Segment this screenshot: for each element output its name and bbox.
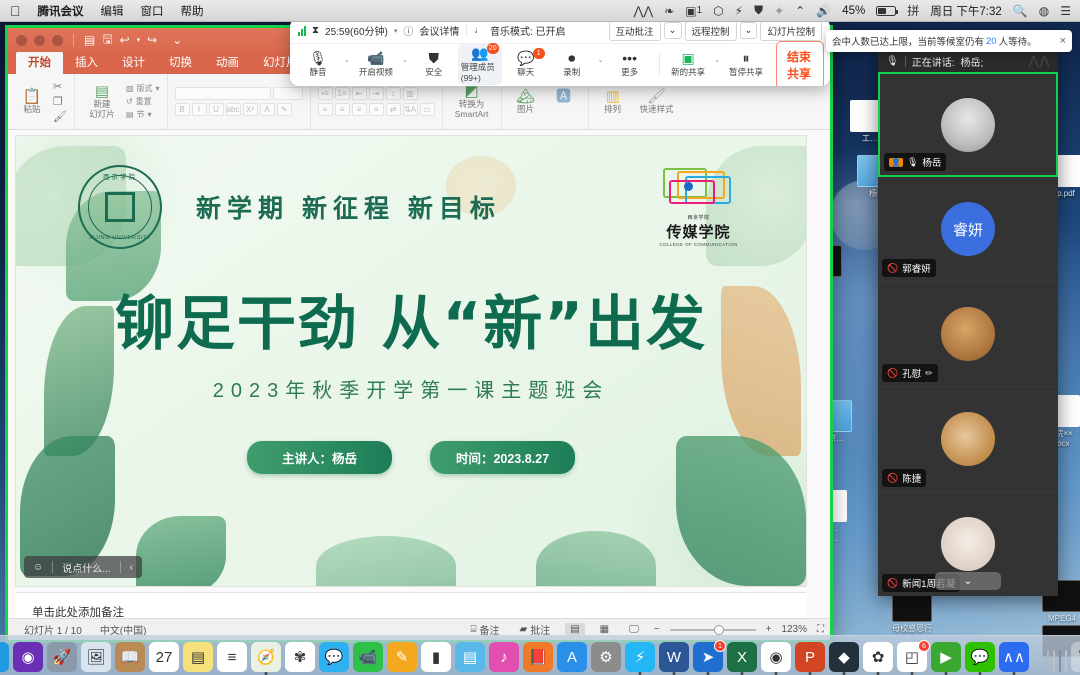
reminders-icon[interactable]: ≡ (217, 642, 247, 672)
strikethrough-button[interactable]: abc (226, 103, 241, 116)
align-right-button[interactable]: ≡ (352, 103, 367, 116)
dock-badge: 1 (714, 640, 726, 652)
dropbox-icon[interactable]: ⬡ (713, 4, 723, 18)
wifi-icon[interactable]: ⌃ (795, 4, 805, 18)
maximize-window-button[interactable] (52, 35, 63, 46)
system-preferences-icon[interactable]: ⚙ (591, 642, 621, 672)
powerpoint-icon[interactable]: P (795, 642, 825, 672)
hourglass-icon: ⧗ (312, 25, 319, 36)
share-screen-icon: ▣ (682, 51, 695, 65)
reset-icon: ↺ (126, 97, 133, 106)
redo-icon[interactable]: ↪ (147, 33, 157, 47)
participant-tile[interactable]: 🚫陈捷 (878, 387, 1058, 492)
more-icon: ••• (622, 51, 637, 65)
tab-transitions[interactable]: 切换 (157, 51, 204, 74)
host-icon: 👤 (889, 158, 903, 167)
menu-help[interactable]: 帮助 (181, 3, 204, 19)
volume-icon[interactable]: 🔊 (816, 4, 831, 18)
new-slide-icon: ▤ (95, 84, 109, 99)
video-off-icon: 📹 (367, 51, 384, 65)
participant-name-badge: 👤🎙杨岳 (884, 153, 946, 171)
line-spacing-button[interactable]: ↕ (386, 87, 401, 100)
screencast-icon[interactable]: ▣1 (685, 4, 702, 18)
chevron-down-icon[interactable]: ⌄ (712, 56, 722, 73)
college-name-text: 传媒学院 (651, 221, 746, 242)
meeting-details-link[interactable]: 会议详情 (419, 23, 459, 38)
meeting-button-pause-share[interactable]: ⏸暂停共享 (724, 49, 768, 80)
meeting-button-more[interactable]: •••更多 (608, 49, 652, 80)
participants-icon: 👥 (471, 46, 488, 60)
microphone-muted-icon: 🚫 (887, 473, 898, 484)
undo-caret-icon[interactable]: ▾ (137, 36, 141, 44)
end-share-button[interactable]: 结束共享 (776, 41, 824, 87)
speaking-label: 正在讲话: (912, 54, 955, 69)
reset-button[interactable]: ↺重置 (126, 96, 160, 107)
align-center-button[interactable]: ≡ (335, 103, 350, 116)
layout-button[interactable]: ▧版式▾ (126, 83, 160, 94)
notification-badge: 20 (487, 43, 499, 54)
participant-name: 郭睿妍 (902, 261, 931, 275)
speaking-indicator: 🎙 正在讲话: 杨岳; ⋀⋀ (878, 50, 1058, 72)
columns-button[interactable]: ▥ (403, 87, 418, 100)
notification-count: 20 (984, 36, 999, 47)
minimized-window[interactable] (1047, 650, 1049, 672)
quick-styles-label: 快速样式 (640, 105, 674, 114)
align-text-button[interactable]: ⇅A (403, 103, 418, 116)
section-label: 节 (137, 109, 145, 120)
ribbon-group-clipboard: 📋 粘贴 ✂ ❐ 🖌 (8, 74, 75, 129)
signal-icon (298, 26, 306, 36)
quick-styles-button[interactable]: 🖌 快速样式 (634, 89, 680, 114)
file-label: 母校感恩行 (880, 624, 944, 634)
ribbon-group-slides: ▤ 新建 幻灯片 ▧版式▾ ↺重置 ▤节▾ (75, 74, 168, 129)
emoji-icon[interactable]: ☺ (24, 556, 52, 578)
speaking-name: 杨岳; (960, 54, 983, 69)
collapse-icon[interactable]: ‹ (121, 556, 142, 578)
meeting-button-label: 暂停共享 (729, 66, 763, 78)
terminal-icon[interactable]: ◆ (829, 642, 859, 672)
participant-tile[interactable]: 🚫孔慰✏ (878, 282, 1058, 387)
cut-icon[interactable]: ✂ (53, 80, 67, 93)
participant-name-badge: 🚫郭睿妍 (882, 259, 936, 277)
microphone-muted-icon: 🚫 (887, 578, 898, 589)
textbox-icon: 🅰 (556, 89, 571, 104)
remote-control-button[interactable]: 远程控制 (685, 21, 737, 41)
messages-icon[interactable]: 💬 (319, 642, 349, 672)
reset-label: 重置 (136, 96, 152, 107)
meeting-button-label: 录制 (563, 66, 580, 78)
record-icon: ⏺ (568, 51, 575, 65)
battery-percent: 45% (842, 5, 865, 17)
section-icon: ▤ (126, 110, 134, 119)
send-anywhere-icon[interactable]: ➤1 (693, 642, 723, 672)
new-slide-label: 新建 幻灯片 (89, 100, 115, 119)
remote-control-caret-icon[interactable]: ⌄ (740, 22, 758, 39)
microphone-muted-icon: 🚫 (887, 263, 898, 274)
avatar (941, 412, 995, 466)
college-top-text: 西京学院 (651, 214, 746, 221)
minimized-window[interactable] (1065, 650, 1067, 672)
font-color-button[interactable]: A (260, 103, 275, 116)
input-method-icon[interactable]: 拼 (907, 2, 919, 19)
meeting-button-label: 安全 (425, 66, 442, 78)
layout-label: 版式 (137, 83, 153, 94)
ccleaner-icon[interactable]: ✿ (863, 642, 893, 672)
excel-icon[interactable]: X (727, 642, 757, 672)
arrange-label: 排列 (604, 105, 621, 114)
keynote-icon[interactable]: ▤ (455, 642, 485, 672)
smartart-label: 转换为 SmartArt (455, 100, 489, 119)
waiting-room-notification: 会中人数已达上限，当前等候室仍有 20 人等待。 × (826, 30, 1072, 52)
notification-badge: 1 (533, 48, 545, 59)
calendar-icon[interactable]: 27 (149, 642, 179, 672)
text-box-align-button[interactable]: ▭ (420, 103, 435, 116)
itunes-icon[interactable]: ♪ (489, 642, 519, 672)
justify-button[interactable]: ≡ (369, 103, 384, 116)
photos-icon[interactable]: ✾ (285, 642, 315, 672)
slide-header: 西京学院 XIJING UNIVERSITY 新学期 新征程 新目标 (78, 164, 746, 250)
notes-icon[interactable]: ▤ (183, 642, 213, 672)
mediaplayer-icon[interactable]: ▶ (931, 642, 961, 672)
powerpoint-body: 西京学院 XIJING UNIVERSITY 新学期 新征程 新目标 (8, 130, 830, 640)
mac-menu-bar:  腾讯会议 编辑 窗口 帮助 ⋀⋀ ❧ ▣1 ⬡ ⚡ ⛊ ✦ ⌃ 🔊 45% … (0, 0, 1080, 22)
close-window-button[interactable] (16, 35, 27, 46)
participant-tile[interactable]: 睿妍🚫郭睿妍 (878, 177, 1058, 282)
meeting-chat-overlay[interactable]: ☺ 说点什么... ‹ (24, 556, 142, 578)
mac-dock: ☺◉🚀🖼📖27▤≡🧭✾💬📹✎▮▤♪📕A⚙⚡W➤1X◉P◆✿◰6▶💬∧∧🗑 (0, 635, 1080, 675)
info-icon[interactable]: ⓘ (403, 23, 413, 38)
wechat-icon[interactable]: ❧ (664, 4, 674, 18)
notification-text-after: 人等待。 (999, 34, 1037, 48)
customize-icon[interactable]: ⌄ (172, 33, 182, 47)
ibooks-icon[interactable]: 📕 (523, 642, 553, 672)
meeting-button-label: 更多 (621, 66, 638, 78)
font-size-select[interactable] (273, 87, 303, 100)
slide-content: 西京学院 XIJING UNIVERSITY 新学期 新征程 新目标 (16, 136, 806, 586)
zoom-in-button[interactable]: + (766, 624, 772, 635)
shield-icon: ⛊ (429, 51, 440, 65)
participant-tile[interactable]: 👤🎙杨岳 (878, 72, 1058, 177)
layout-icon: ▧ (126, 84, 134, 93)
chat-icon: 💬 (517, 51, 534, 65)
university-seal-icon: 西京学院 XIJING UNIVERSITY (78, 165, 162, 249)
numbering-button[interactable]: 1≡ (335, 87, 350, 100)
chrome-icon[interactable]: ◉ (761, 642, 791, 672)
align-left-button[interactable]: ≡ (318, 103, 333, 116)
wechat-icon[interactable]: 💬 (965, 642, 995, 672)
avatar (941, 98, 995, 152)
paste-button[interactable]: 📋 粘贴 (15, 89, 49, 114)
slide-subtitle: 2023年秋季开学第一课主题班会 (16, 374, 806, 403)
slide-main-title: 铆足干劲 从“新”出发 (16, 276, 806, 361)
zoom-level: 123% (781, 624, 807, 635)
picture-label: 图片 (517, 105, 534, 114)
tencent-meeting-icon[interactable]: ∧∧ (999, 642, 1029, 672)
battery-icon[interactable] (876, 6, 896, 16)
format-painter-icon[interactable]: 🖌 (53, 110, 67, 123)
flash-icon[interactable]: ⚡ (735, 4, 743, 18)
font-family-select[interactable] (175, 87, 271, 100)
participant-name: 陈捷 (902, 471, 921, 485)
college-logo: 西京学院 传媒学院 COLLEGE OF COMMUNICATION (651, 168, 746, 247)
picture-icon: 🏔 (516, 89, 535, 104)
decrease-indent-button[interactable]: ⇤ (352, 87, 367, 100)
preview-icon[interactable]: 🖼 (81, 642, 111, 672)
zoom-slider-handle[interactable] (714, 625, 724, 635)
minimized-window[interactable] (1053, 650, 1055, 672)
chevron-down-icon[interactable]: ⌄ (596, 56, 606, 73)
participant-name-badge: 🚫陈捷 (882, 469, 926, 487)
smartart-button[interactable]: ◩ 转换为 SmartArt (450, 84, 494, 119)
underline-button[interactable]: U (209, 103, 224, 116)
microphone-icon: 🎙 (886, 56, 899, 67)
meeting-button-microphone[interactable]: 🎙静音 (296, 49, 340, 80)
menu-app-name[interactable]: 腾讯会议 (38, 3, 84, 19)
meeting-button-share-screen[interactable]: ▣新的共享 (666, 49, 710, 80)
dock-badge: 6 (918, 640, 930, 652)
participant-name: 孔慰 (902, 366, 921, 380)
meeting-timer: 25:59(60分钟) (325, 23, 388, 38)
zoom-slider[interactable] (670, 629, 756, 631)
finder-icon[interactable]: ☺ (0, 642, 9, 672)
meeting-button-label: 静音 (309, 66, 326, 78)
thunder-icon[interactable]: ⚡ (625, 642, 655, 672)
slide-pills: 主讲人：杨岳 时间：2023.8.27 (16, 441, 806, 474)
paste-icon: 📋 (23, 89, 42, 104)
meeting-button-chat[interactable]: 💬聊天1 (504, 49, 548, 80)
timer-caret-icon[interactable]: ▾ (394, 27, 398, 35)
notes-icon: ⌸ (470, 624, 476, 635)
textbox-button[interactable]: 🅰 (547, 89, 581, 114)
siri-icon[interactable]: ◉ (13, 642, 43, 672)
superscript-button[interactable]: X² (243, 103, 258, 116)
menu-window[interactable]: 窗口 (141, 3, 164, 19)
desktop-file[interactable]: 母校感恩行 (880, 590, 944, 634)
college-frames-icon (651, 168, 746, 214)
italic-button[interactable]: I (192, 103, 207, 116)
picture-button[interactable]: 🏔 图片 (509, 89, 543, 114)
meeting-toolbar: ⧗ 25:59(60分钟) ▾ ⓘ 会议详情 | ♩ 音乐模式: 已开启 互动批… (290, 18, 830, 86)
time-pill: 时间：2023.8.27 (430, 441, 575, 474)
facetime-icon[interactable]: 📹 (353, 642, 383, 672)
participant-name: 杨岳 (922, 155, 941, 169)
meeting-button-label: 管理成员(99+) (461, 61, 499, 83)
trash-icon[interactable]: 🗑 (1071, 642, 1080, 672)
smartart-icon: ◩ (464, 84, 478, 99)
meeting-toolbar-actions-row: 🎙静音⌄📹开启视频⌄⛊安全👥管理成员(99+)20💬聊天1⏺录制⌄•••更多▣新… (290, 44, 830, 85)
participant-name-badge: 🚫孔慰✏ (882, 364, 938, 382)
apple-logo-icon[interactable]:  (10, 4, 21, 18)
seal-bottom-text: XIJING UNIVERSITY (80, 235, 160, 241)
section-button[interactable]: ▤节▾ (126, 109, 160, 120)
microphone-icon: 🎙 (309, 51, 327, 65)
arrange-icon: ▥ (605, 89, 619, 104)
tab-animations[interactable]: 动画 (204, 51, 251, 74)
microphone-muted-icon: 🚫 (887, 368, 898, 379)
notification-text-before: 会中人数已达上限，当前等候室仍有 (832, 34, 984, 48)
meeting-button-label: 新的共享 (671, 66, 705, 78)
screencast-count: 1 (697, 5, 703, 16)
menubar-clock[interactable]: 周日 下午7:32 (930, 3, 1002, 19)
tab-design[interactable]: 设计 (110, 51, 157, 74)
minimize-window-button[interactable] (34, 35, 45, 46)
sidebar-icon[interactable]: ▤ (84, 33, 95, 47)
pause-share-icon: ⏸ (743, 51, 750, 65)
comment-icon: ▰ (519, 624, 527, 635)
numbers-icon[interactable]: ▮ (421, 642, 451, 672)
search-icon[interactable]: 🔍 (1013, 4, 1028, 18)
bold-button[interactable]: B (175, 103, 190, 116)
menu-edit[interactable]: 编辑 (101, 3, 124, 19)
mountain-icon[interactable]: ⋀⋀ (634, 4, 654, 18)
tab-home[interactable]: 开始 (16, 51, 63, 74)
meeting-button-label: 聊天 (517, 66, 534, 78)
undo-icon[interactable]: ↩ (120, 33, 130, 47)
music-icon: ♩ (474, 25, 484, 36)
chevron-down-icon[interactable]: ⌄ (400, 56, 410, 73)
fit-to-window-icon[interactable]: ⛶ (817, 624, 824, 635)
seal-top-text: 西京学院 (80, 174, 160, 181)
avatar (941, 517, 995, 571)
participant-tiles: 👤🎙杨岳睿妍🚫郭睿妍🚫孔慰✏🚫陈捷🚫新闻1周若凝 (878, 72, 1058, 596)
slide-slogan: 新学期 新征程 新目标 (196, 189, 501, 225)
zoom-out-button[interactable]: − (654, 624, 660, 635)
meeting-button-video-off[interactable]: 📹开启视频 (354, 49, 398, 80)
college-english-text: COLLEGE OF COMMUNICATION (651, 242, 746, 247)
text-direction-button[interactable]: ⇄ (386, 103, 401, 116)
slide-control-button[interactable]: 幻灯片控制 (760, 21, 822, 41)
launchpad-icon[interactable]: 🚀 (47, 642, 77, 672)
slide-canvas[interactable]: 西京学院 XIJING UNIVERSITY 新学期 新征程 新目标 (16, 136, 806, 586)
pages-icon[interactable]: ✎ (387, 642, 417, 672)
meeting-button-record[interactable]: ⏺录制 (550, 49, 594, 80)
shield-icon[interactable]: ⛊ (754, 3, 763, 18)
office-icon[interactable]: ◰6 (897, 642, 927, 672)
chat-input[interactable]: 说点什么... (53, 556, 119, 578)
avatar (941, 307, 995, 361)
close-icon[interactable]: × (1060, 35, 1066, 47)
filmstrip-scroll-down-button[interactable]: ⌄ (935, 572, 1001, 590)
maps-icon[interactable]: 🧭 (251, 642, 281, 672)
powerpoint-window: ▤ 🖫 ↩ ▾ ↪ ⌄ 开始 插入 设计 切换 动画 幻灯片放映 📋 粘贴 ✂ … (8, 28, 830, 640)
copy-icon[interactable]: ❐ (53, 95, 67, 108)
quick-styles-icon: 🖌 (647, 89, 666, 104)
minimized-window[interactable] (1059, 650, 1061, 672)
annotate-icon: ✏ (925, 368, 933, 379)
increase-indent-button[interactable]: ⇥ (369, 87, 384, 100)
speaker-pill: 主讲人：杨岳 (247, 441, 392, 474)
arrange-button[interactable]: ▥ 排列 (596, 89, 630, 114)
contacts-icon[interactable]: 📖 (115, 642, 145, 672)
appstore-icon[interactable]: A (557, 642, 587, 672)
chevron-down-icon[interactable]: ⌄ (342, 56, 352, 73)
meeting-button-participants[interactable]: 👥管理成员(99+)20 (458, 44, 502, 85)
tencent-meeting-icon: ⋀⋀ (1028, 53, 1050, 69)
bullets-button[interactable]: •≡ (318, 87, 333, 100)
file-label: MPEG4 (1030, 614, 1080, 624)
microphone-on-icon: 🎙 (907, 157, 918, 168)
meeting-button-label: 开启视频 (359, 66, 393, 78)
bluetooth-icon[interactable]: ✦ (774, 4, 784, 18)
paste-label: 粘贴 (23, 105, 40, 114)
annotate-button[interactable]: 互动批注 (609, 21, 661, 41)
new-slide-button[interactable]: ▤ 新建 幻灯片 (82, 84, 122, 119)
siri-icon[interactable]: ◍ (1039, 4, 1049, 18)
highlight-button[interactable]: ✎ (277, 103, 292, 116)
participant-filmstrip: 🎙 正在讲话: 杨岳; ⋀⋀ 👤🎙杨岳睿妍🚫郭睿妍🚫孔慰✏🚫陈捷🚫新闻1周若凝 … (878, 50, 1058, 596)
ribbon-group-font: B I U abc X² A ✎ (168, 74, 311, 129)
annotate-caret-icon[interactable]: ⌄ (664, 22, 682, 39)
control-center-icon[interactable]: ☰ (1060, 4, 1071, 18)
meeting-button-shield[interactable]: ⛊安全 (412, 49, 456, 80)
save-icon[interactable]: 🖫 (102, 30, 112, 51)
word-icon[interactable]: W (659, 642, 689, 672)
tab-insert[interactable]: 插入 (63, 51, 110, 74)
music-mode-status: 音乐模式: 已开启 (490, 23, 566, 38)
avatar: 睿妍 (941, 202, 995, 256)
